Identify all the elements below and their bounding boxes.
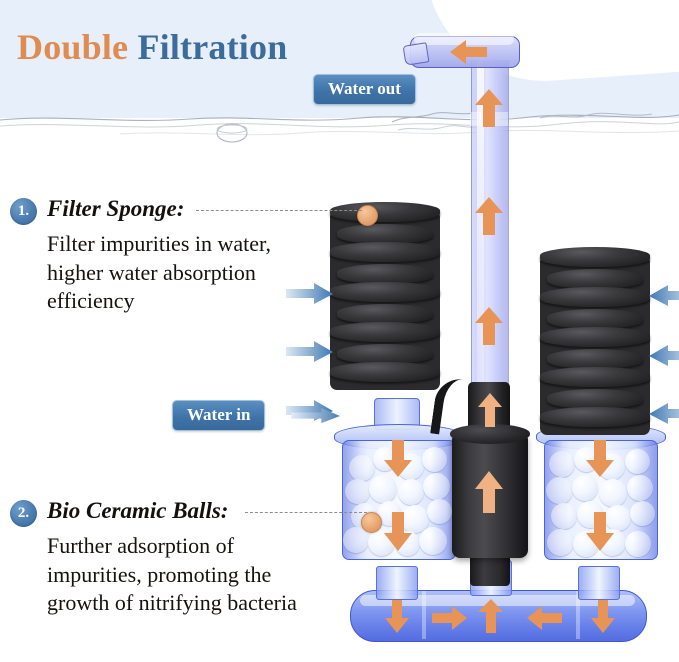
arrow-manifold-center-up [477, 598, 505, 634]
feature-number-1: 1. [10, 198, 37, 225]
arrow-left-chamber-bottom-down [383, 512, 413, 552]
arrow-manifold-left-run-right [432, 605, 468, 631]
inflow-arrow-right-3 [648, 403, 679, 425]
right-downpipe [578, 566, 620, 600]
inflow-arrow-left-2 [286, 341, 334, 363]
feature-body-2: Further adsorption of impurities, promot… [47, 532, 309, 618]
feature-number-2: 2. [10, 500, 37, 527]
inflow-arrow-right-2 [648, 345, 679, 367]
dash-line-1 [196, 210, 362, 211]
arrow-manifold-right-run-left [526, 605, 562, 631]
infographic-canvas: Double Filtration [0, 0, 679, 662]
outlet-spout-tip [403, 42, 430, 66]
page-title: Double Filtration [17, 26, 287, 68]
arrow-pump-neck-up [477, 392, 503, 428]
left-sponge [330, 210, 440, 390]
badge-water-in-arrow [288, 408, 344, 424]
arrow-riser-mid-up [474, 196, 504, 236]
arrow-outlet-left [449, 39, 487, 65]
marker-dot-filter-sponge [357, 205, 378, 226]
feature-body-1: Filter impurities in water, higher water… [47, 230, 299, 316]
arrow-right-chamber-top-down [585, 440, 615, 478]
dash-line-2 [245, 512, 367, 513]
marker-dot-ceramic-balls [361, 512, 382, 533]
arrow-riser-low-up [474, 306, 504, 346]
feature-heading-2: Bio Ceramic Balls: [47, 498, 228, 524]
arrow-manifold-right-inlet-down [590, 600, 616, 634]
right-sponge [540, 255, 650, 435]
manifold-seam-left [422, 591, 426, 639]
arrow-right-chamber-bottom-down [585, 512, 615, 552]
inflow-arrow-right-1 [648, 285, 679, 307]
title-word-filtration: Filtration [137, 27, 287, 67]
feature-heading-1: Filter Sponge: [47, 196, 184, 222]
arrow-manifold-left-inlet-down [384, 600, 410, 634]
badge-water-out[interactable]: Water out [313, 74, 416, 105]
left-downpipe [376, 566, 418, 600]
arrow-left-chamber-top-down [383, 440, 413, 478]
title-word-double: Double [17, 27, 128, 67]
badge-water-in[interactable]: Water in [172, 400, 265, 431]
arrow-pump-body-up [474, 470, 504, 514]
arrow-riser-top-up [474, 88, 504, 128]
